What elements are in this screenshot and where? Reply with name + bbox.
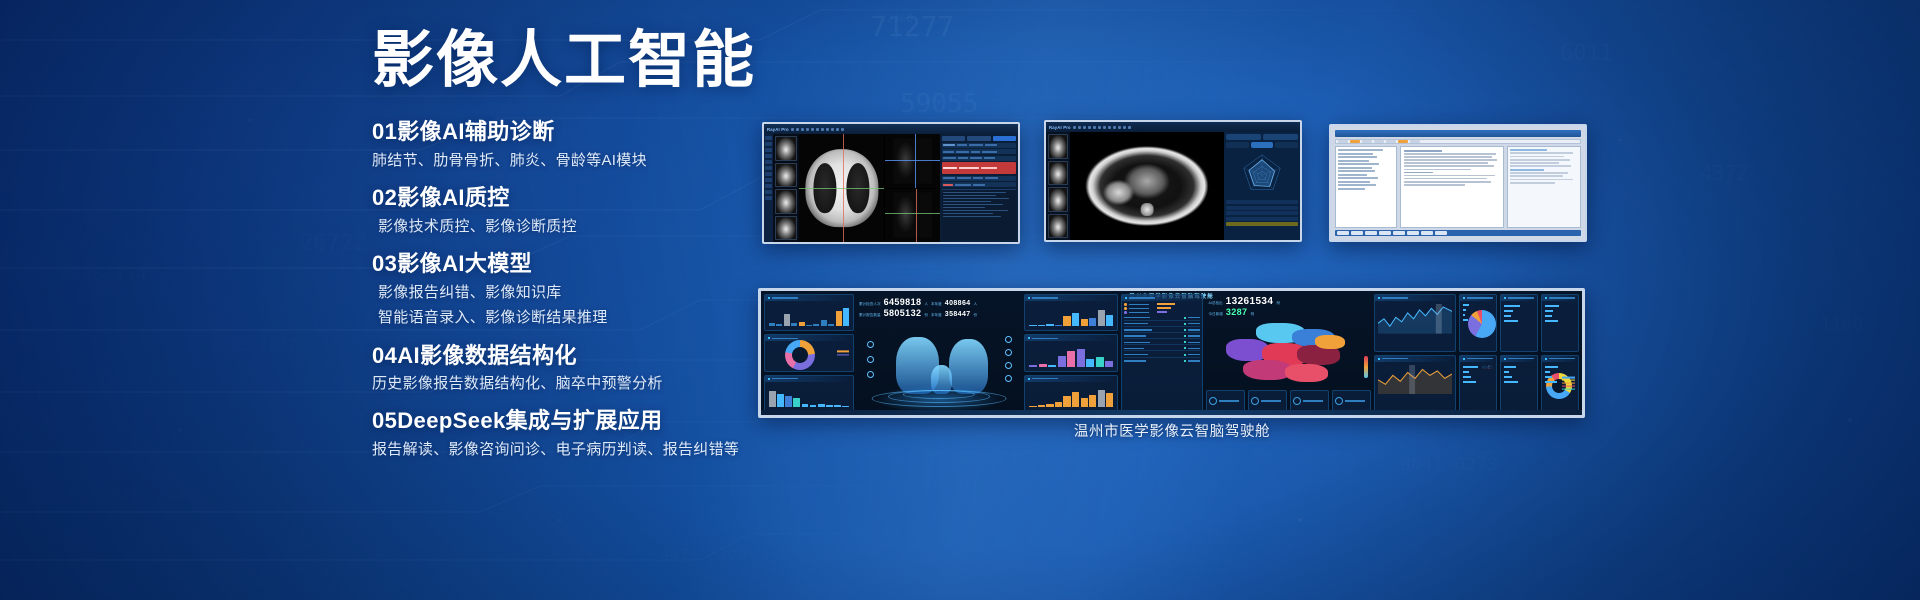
kpi-label: 本年度	[931, 313, 942, 318]
qc-window: RayAI Pro	[1046, 122, 1300, 240]
report-body	[1335, 146, 1581, 228]
bullet-icon	[1545, 358, 1547, 360]
qc-body	[1046, 132, 1300, 240]
card-title	[1549, 358, 1575, 360]
screenshot-regional-dashboard: 温州市医学影像云智脑驾驶舱	[758, 288, 1585, 418]
finding-row[interactable]	[942, 149, 1016, 154]
report-footer-actions[interactable]	[1335, 230, 1581, 236]
qc-filter[interactable]	[1275, 142, 1298, 148]
bullet-icon	[1504, 297, 1506, 299]
qc-row-warning[interactable]	[1226, 222, 1298, 226]
card-compare-bars[interactable]	[1541, 294, 1579, 352]
card-pie-summary[interactable]	[1459, 294, 1497, 352]
cell	[981, 167, 997, 169]
ranking-row[interactable]	[1124, 323, 1200, 327]
node-icon[interactable]	[1005, 349, 1012, 356]
bar-chart	[1029, 305, 1113, 326]
screenshot-ai-quality-control: RayAI Pro	[1044, 120, 1302, 242]
text-line	[1404, 162, 1488, 164]
kpi-line	[1504, 320, 1518, 322]
tree-node[interactable]	[1338, 149, 1383, 151]
toolbar-button[interactable]	[1410, 140, 1420, 143]
kpi-unit: 人	[974, 302, 978, 307]
legend-label	[1129, 308, 1149, 309]
kpi-label: 累计报告数量	[859, 313, 881, 318]
tree-node[interactable]	[1338, 163, 1379, 165]
toolbar-icon[interactable]	[1118, 126, 1121, 129]
kpi-line	[1463, 381, 1476, 383]
toolbar-button[interactable]	[1386, 140, 1396, 143]
feature-item-02: 02影像AI质控 影像技术质控、影像诊断质控	[372, 183, 852, 238]
ranking-row[interactable]	[1124, 341, 1200, 345]
right-node-list	[1005, 336, 1012, 382]
text-line	[1510, 172, 1568, 174]
qc-toolbar: RayAI Pro	[1046, 122, 1300, 132]
card-title	[1467, 358, 1493, 360]
card-title	[1032, 338, 1058, 340]
series-thumbnail[interactable]	[1048, 187, 1068, 212]
worklist-tree[interactable]	[1335, 146, 1397, 228]
card-line-trend-a[interactable]	[1374, 294, 1456, 352]
tree-node[interactable]	[1338, 188, 1365, 190]
node-icon[interactable]	[867, 341, 874, 348]
finding-row[interactable]	[942, 156, 1016, 161]
bar	[1039, 364, 1047, 367]
toolbar-button-active[interactable]	[1350, 140, 1360, 143]
toolbar-button[interactable]	[1374, 140, 1384, 143]
kpi-label: 累计检查人次	[859, 302, 881, 307]
line-chart	[1378, 304, 1452, 334]
feature-title-02: 02影像AI质控	[372, 183, 852, 213]
card-mixed-trend[interactable]	[1459, 355, 1497, 413]
qc-thumbnail-list[interactable]	[1046, 132, 1070, 240]
cell	[955, 184, 971, 186]
qc-radar-chart	[1226, 150, 1298, 198]
rank-value	[1188, 348, 1200, 349]
kpi-column	[1545, 305, 1559, 322]
human-silhouettes	[857, 321, 1021, 412]
bar	[1067, 351, 1075, 366]
qc-result-table[interactable]	[1226, 200, 1298, 238]
card-header	[1542, 356, 1578, 362]
node-icon[interactable]	[1005, 336, 1012, 343]
tree-node[interactable]	[1338, 167, 1372, 169]
card-title	[1508, 297, 1534, 299]
bullet-icon	[1378, 358, 1380, 360]
rank-value	[1188, 323, 1200, 324]
text-line	[1404, 169, 1471, 171]
legend-label	[1129, 312, 1149, 313]
ranking-row[interactable]	[1124, 354, 1200, 358]
kpi-unit: 份	[974, 313, 978, 318]
node-icon[interactable]	[867, 371, 874, 378]
footer-button[interactable]	[1407, 231, 1419, 235]
panel-primary-button[interactable]	[993, 136, 1016, 141]
card-header	[1375, 356, 1455, 362]
toolbar-icon[interactable]	[1103, 126, 1106, 129]
ct-secondary-views	[885, 134, 940, 242]
screenshot-gallery: RayAI Pro	[740, 0, 1920, 600]
rank-name	[1124, 348, 1144, 349]
device-icon	[1251, 397, 1259, 405]
col-label	[985, 144, 997, 146]
bullet-icon	[1028, 297, 1030, 299]
card-exam-type-dist[interactable]	[1024, 294, 1118, 331]
card-orange-bars[interactable]	[1500, 355, 1538, 413]
toolbar-button-active[interactable]	[1398, 140, 1408, 143]
node-icon[interactable]	[1005, 375, 1012, 382]
rank-dot-icon	[1184, 347, 1186, 349]
card-title	[1032, 378, 1058, 380]
text-line	[943, 213, 993, 215]
tree-node[interactable]	[1338, 177, 1378, 179]
kpi-unit: 人	[924, 302, 928, 307]
dashboard-col-grid	[1459, 294, 1579, 412]
rank-value	[1188, 317, 1200, 318]
cell	[970, 157, 982, 159]
bar	[1072, 392, 1079, 407]
qc-row[interactable]	[1226, 217, 1298, 221]
bullet-icon	[1125, 297, 1127, 299]
rank-dot-icon	[1184, 354, 1186, 356]
tree-node[interactable]	[1338, 170, 1375, 172]
card-daily-volume[interactable]	[1500, 294, 1538, 352]
finding-row[interactable]	[942, 176, 1016, 181]
tree-node[interactable]	[1338, 153, 1373, 155]
bar	[1105, 361, 1113, 367]
map-footer-tiles	[1206, 390, 1370, 412]
tile-label	[1303, 400, 1323, 402]
region-map[interactable]	[1206, 322, 1370, 387]
bullet-icon	[1463, 358, 1465, 360]
card-header	[1460, 356, 1496, 362]
rank-dot-icon	[1184, 329, 1186, 331]
grid-row-bottom	[1459, 355, 1579, 413]
qc-tab[interactable]	[1263, 134, 1298, 140]
toolbar-icon[interactable]	[1113, 126, 1116, 129]
text-line	[1404, 156, 1492, 158]
qc-row[interactable]	[1226, 206, 1298, 210]
legend-swatch	[1562, 377, 1575, 378]
qc-filter-bar[interactable]	[1226, 142, 1298, 148]
donut-legend	[1562, 377, 1575, 390]
kpi-label: AI总检出	[1208, 301, 1222, 306]
node-icon[interactable]	[1005, 362, 1012, 369]
card-title	[1032, 297, 1058, 299]
ranking-row[interactable]	[1124, 347, 1200, 351]
kpi-line	[1504, 376, 1512, 378]
series-thumbnail[interactable]	[1048, 214, 1068, 239]
bar	[1106, 315, 1113, 327]
qc-filter-active[interactable]	[1251, 142, 1274, 148]
cell	[943, 184, 953, 186]
qc-filter[interactable]	[1226, 142, 1249, 148]
kpi-line	[1545, 310, 1553, 312]
col-label	[943, 144, 955, 146]
toolbar-button[interactable]	[1338, 140, 1348, 143]
cell	[973, 177, 983, 179]
dashboard-window: 温州市医学影像云智脑驾驶舱	[761, 291, 1582, 415]
grid-row-top	[1459, 294, 1579, 352]
pie-chart	[1468, 310, 1496, 338]
svg-text:4471 3308: 4471 3308	[660, 545, 747, 564]
kpi-line	[1545, 315, 1552, 317]
footer-button[interactable]	[1365, 231, 1377, 235]
node-icon[interactable]	[867, 356, 874, 363]
bar	[1106, 393, 1113, 407]
panel-title	[1510, 149, 1547, 151]
ranking-rows[interactable]	[1124, 317, 1200, 362]
ct-sagittal-image	[893, 193, 931, 238]
text-line	[943, 192, 1006, 194]
toolbar-icon[interactable]	[1083, 126, 1086, 129]
kpi-label: 今日新增	[1208, 312, 1222, 317]
qc-image-viewport[interactable]	[1070, 132, 1224, 240]
kpi-line	[1463, 309, 1466, 311]
kpi-line	[1463, 314, 1465, 316]
text-line	[1510, 182, 1555, 184]
toolbar-icon[interactable]	[1128, 126, 1131, 129]
kpi-line	[1545, 320, 1558, 322]
nodule-findings-panel[interactable]	[940, 134, 1018, 242]
footer-button[interactable]	[1379, 231, 1391, 235]
footer-button[interactable]	[1351, 231, 1363, 235]
feature-desc-02: 影像技术质控、影像诊断质控	[372, 215, 852, 238]
feature-item-03: 03影像AI大模型 影像报告纠错、影像知识库 智能语音录入、影像诊断结果推理	[372, 249, 852, 329]
footer-tile[interactable]	[1248, 390, 1287, 412]
bullet-icon	[1504, 358, 1506, 360]
screenshot-report-correction	[1329, 124, 1587, 242]
tree-node[interactable]	[1338, 184, 1376, 186]
panel-action-buttons[interactable]	[942, 136, 1016, 141]
rank-value	[1188, 329, 1200, 330]
caption-regional-dashboard: 温州市医学影像云智脑驾驶舱	[1022, 420, 1322, 441]
kpi-line	[1504, 381, 1518, 383]
bar	[1081, 398, 1088, 407]
finding-row-highlighted[interactable]	[942, 162, 1016, 174]
kpi-column	[1504, 305, 1520, 322]
legend-swatch	[1562, 385, 1575, 386]
series-thumbnail[interactable]	[1048, 134, 1068, 159]
rank-dot-icon	[1184, 323, 1186, 325]
tree-node[interactable]	[1338, 181, 1370, 183]
rank-value	[1188, 342, 1200, 343]
dashboard-col-center	[1024, 294, 1118, 412]
tile-label	[1219, 400, 1239, 402]
rank-name	[1124, 317, 1150, 318]
bullet-icon	[1028, 378, 1030, 380]
kpi-unit: 例	[1276, 301, 1280, 306]
bar-chart	[1525, 305, 1533, 347]
footer-button[interactable]	[1337, 231, 1349, 235]
kpi-line	[1463, 304, 1469, 306]
figure-adult-right	[949, 339, 988, 394]
text-line	[1404, 178, 1487, 180]
ranking-row[interactable]	[1124, 335, 1200, 339]
feature-desc-03-line1: 影像报告纠错、影像知识库	[372, 281, 852, 304]
tree-node[interactable]	[1338, 156, 1377, 158]
report-title-bar	[1335, 130, 1581, 137]
kpi-column	[1504, 366, 1518, 383]
toolbar-icon[interactable]	[1123, 126, 1126, 129]
radar-svg	[1226, 150, 1298, 198]
ct-coronal-image	[893, 138, 931, 183]
toolbar-icon[interactable]	[1078, 126, 1081, 129]
rank-name	[1124, 354, 1148, 355]
text-line	[1404, 153, 1496, 155]
panel-button[interactable]	[967, 136, 990, 141]
bullet-icon	[1545, 297, 1547, 299]
dashboard-col-lines	[1374, 294, 1456, 412]
qc-tab-bar[interactable]	[1226, 134, 1298, 140]
toolbar-icon[interactable]	[1088, 126, 1091, 129]
bar	[1098, 390, 1105, 407]
bar	[1029, 365, 1037, 367]
toolbar-button[interactable]	[1362, 140, 1372, 143]
dashboard-footer-bar	[761, 410, 1582, 415]
report-toolbar[interactable]	[1335, 139, 1581, 144]
bar	[1029, 406, 1036, 407]
bar	[1089, 395, 1096, 407]
col-label	[957, 144, 967, 146]
footer-tile[interactable]	[1290, 390, 1329, 412]
card-ranking-list[interactable]	[1121, 294, 1203, 412]
crosshair-horizontal	[885, 160, 940, 161]
cell	[943, 151, 954, 153]
feature-item-05: 05DeepSeek集成与扩展应用 报告解读、影像咨询问诊、电子病历判读、报告纠…	[372, 406, 852, 461]
finding-row[interactable]	[942, 182, 1016, 187]
card-hospital-ranking[interactable]	[1024, 334, 1118, 371]
legend-label	[1129, 304, 1149, 305]
toolbar-icon[interactable]	[1093, 126, 1096, 129]
card-header	[1025, 295, 1117, 301]
ranking-row[interactable]	[1124, 317, 1200, 321]
cell	[985, 177, 998, 179]
text-line	[943, 198, 1009, 200]
card-title	[1549, 297, 1575, 299]
feature-item-04: 04AI影像数据结构化 历史影像报告数据结构化、脑卒中预警分析	[372, 341, 852, 396]
bar	[1063, 396, 1070, 407]
footer-tile[interactable]	[1332, 390, 1371, 412]
cell	[957, 177, 971, 179]
cell	[982, 151, 997, 153]
legend-dot-icon	[1124, 311, 1127, 314]
kpi-line	[1504, 366, 1516, 368]
tree-node[interactable]	[1338, 160, 1369, 162]
footer-button[interactable]	[1421, 231, 1433, 235]
card-header	[1542, 295, 1578, 301]
bar	[1046, 324, 1053, 326]
kpi-row: 累计报告数量 5805132 份 本年度 358447 份	[859, 308, 1019, 318]
footer-button[interactable]	[1393, 231, 1405, 235]
spine-marker	[1140, 203, 1154, 217]
qc-row[interactable]	[1226, 211, 1298, 215]
bar-chart	[1029, 345, 1113, 366]
tree-node[interactable]	[1338, 174, 1367, 176]
rank-name	[1124, 329, 1152, 330]
text-line	[1404, 159, 1497, 161]
toolbar-icon[interactable]	[1108, 126, 1111, 129]
kpi-line	[1545, 305, 1559, 307]
card-ai-detection-trend[interactable]	[1024, 375, 1118, 412]
feature-list-column: 影像人工智能 01影像AI辅助诊断 肺结节、肋骨骨折、肺炎、骨龄等AI模块 02…	[372, 26, 852, 472]
card-header	[1122, 295, 1202, 301]
legend-item	[1124, 303, 1200, 306]
text-line	[1510, 175, 1563, 177]
bar	[1089, 318, 1096, 327]
ranking-row[interactable]	[1124, 329, 1200, 333]
svg-text:3619 2207: 3619 2207	[210, 335, 297, 354]
svg-text:2088 1147: 2088 1147	[60, 264, 158, 285]
text-line	[1510, 159, 1570, 161]
bar	[1098, 310, 1105, 327]
report-editor[interactable]	[1400, 146, 1504, 228]
bar-chart	[1029, 386, 1113, 407]
card-donut-summary[interactable]	[1541, 355, 1579, 413]
kpi-unit: 例	[1250, 312, 1254, 317]
card-line-trend-b[interactable]	[1374, 355, 1456, 413]
bar	[1046, 404, 1053, 407]
ct-chest-image	[1085, 146, 1208, 226]
ct-sagittal-view[interactable]	[885, 189, 940, 243]
card-title	[1382, 297, 1408, 299]
line-chart	[1378, 365, 1452, 395]
banner-root: 71277 59055 82366 6011 4372 2088 1147 36…	[0, 0, 1920, 600]
kpi-line	[1463, 366, 1478, 368]
rank-value	[1188, 360, 1200, 361]
bar	[1048, 365, 1056, 366]
feature-title-03: 03影像AI大模型	[372, 249, 852, 279]
bar	[1058, 356, 1066, 367]
crosshair-vertical	[916, 189, 917, 243]
report-text-block[interactable]	[942, 189, 1016, 241]
ranking-row[interactable]	[1124, 360, 1200, 362]
page-title: 影像人工智能	[372, 26, 852, 95]
kpi-column	[1463, 366, 1478, 383]
text-line	[943, 201, 991, 203]
cell	[956, 151, 969, 153]
bar-chart	[1523, 366, 1533, 408]
text-line	[1510, 152, 1573, 154]
kpi-line	[1545, 376, 1552, 378]
qc-app-name: RayAI Pro	[1049, 125, 1071, 130]
toolbar-icon[interactable]	[1098, 126, 1101, 129]
footer-button[interactable]	[1435, 231, 1447, 235]
kpi-unit: 份	[924, 313, 928, 318]
correction-suggestion-panel[interactable]	[1507, 146, 1581, 228]
kpi-value: 3287	[1226, 307, 1248, 317]
text-line	[1510, 156, 1564, 158]
bar	[1063, 316, 1070, 326]
kpi-row: 今日新增 3287 例	[1208, 307, 1368, 317]
map-region[interactable]	[1285, 364, 1328, 382]
footer-tile[interactable]	[1206, 390, 1245, 412]
cell	[959, 167, 979, 169]
text-line	[943, 204, 1003, 206]
ct-coronal-view[interactable]	[885, 134, 940, 188]
panel-button[interactable]	[942, 136, 965, 141]
bar	[1072, 313, 1079, 326]
text-line	[1510, 162, 1559, 164]
field-label	[1404, 172, 1433, 174]
hospital-icon	[1209, 397, 1217, 405]
qc-row[interactable]	[1226, 200, 1298, 204]
map-region[interactable]	[1315, 335, 1345, 349]
qc-score-panel[interactable]	[1224, 132, 1300, 240]
qc-tab[interactable]	[1226, 134, 1261, 140]
toolbar-icon[interactable]	[1073, 126, 1076, 129]
series-thumbnail[interactable]	[1048, 161, 1068, 186]
